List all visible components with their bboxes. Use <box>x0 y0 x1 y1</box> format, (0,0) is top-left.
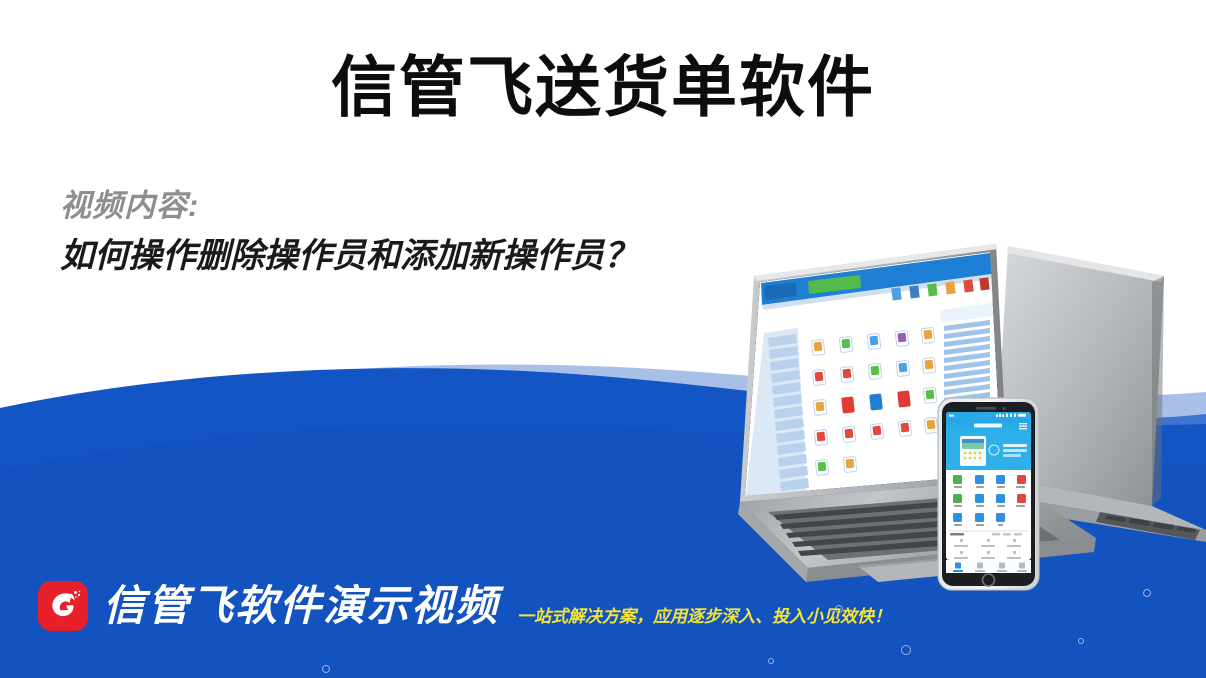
brand-bar: 信管飞软件演示视频 一站式解决方案，应用逐步深入、投入小见效快！ <box>38 578 891 634</box>
video-content-label: 视频内容: <box>60 186 199 226</box>
decor-dot <box>901 645 911 655</box>
device-illustration-group <box>540 230 1206 600</box>
decor-dot <box>1078 638 1084 644</box>
slide-canvas: 信管飞送货单软件 视频内容: 如何操作删除操作员和添加新操作员？ 信管飞软件演示… <box>0 0 1206 678</box>
decor-dot <box>768 658 774 664</box>
page-title: 信管飞送货单软件 <box>0 48 1206 126</box>
decor-dot <box>322 665 330 673</box>
brand-name: 信管飞软件演示视频 <box>103 581 499 631</box>
smartphone-with-mobile-app <box>938 398 1039 590</box>
xinguanfei-bird-logo-icon <box>38 581 88 631</box>
video-content-question: 如何操作删除操作员和添加新操作员？ <box>60 234 638 278</box>
brand-tagline: 一站式解决方案，应用逐步深入、投入小见效快！ <box>517 605 891 634</box>
